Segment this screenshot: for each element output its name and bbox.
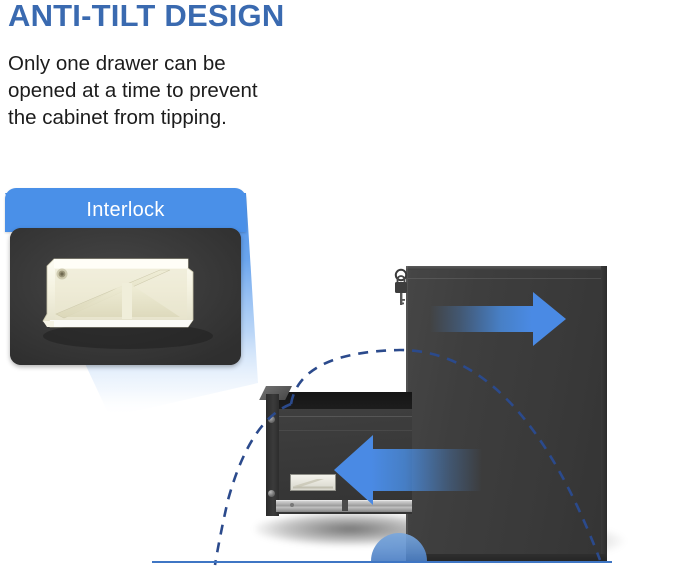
cabinet-top-edge [406, 266, 607, 270]
cabinet-right-edge [601, 266, 607, 561]
drawer-rivet-bottom [268, 490, 275, 497]
product-feature-graphic: ANTI-TILT DESIGN Only one drawer can be … [0, 0, 679, 570]
drawer-interlock-bar [290, 474, 336, 491]
drawer-interlock-bar-detail [291, 475, 335, 490]
cabinet-base [406, 554, 607, 561]
cabinet-body [406, 266, 607, 561]
drawer-seam-lower [274, 430, 412, 431]
drawer-seam-upper [274, 416, 412, 417]
drawer-side-panel [274, 409, 412, 514]
slide-rail-notch [342, 500, 348, 511]
drawer-front-panel [266, 394, 279, 516]
ground-reference-line [152, 561, 612, 563]
drawer-top-rim [274, 392, 412, 409]
cabinet-illustration [0, 0, 679, 570]
cabinet-lock-icon [388, 268, 414, 312]
cabinet-top-seam [408, 278, 605, 279]
slide-rail-dot [290, 503, 294, 507]
open-drawer [262, 386, 412, 528]
drawer-rivet-top [268, 416, 275, 423]
